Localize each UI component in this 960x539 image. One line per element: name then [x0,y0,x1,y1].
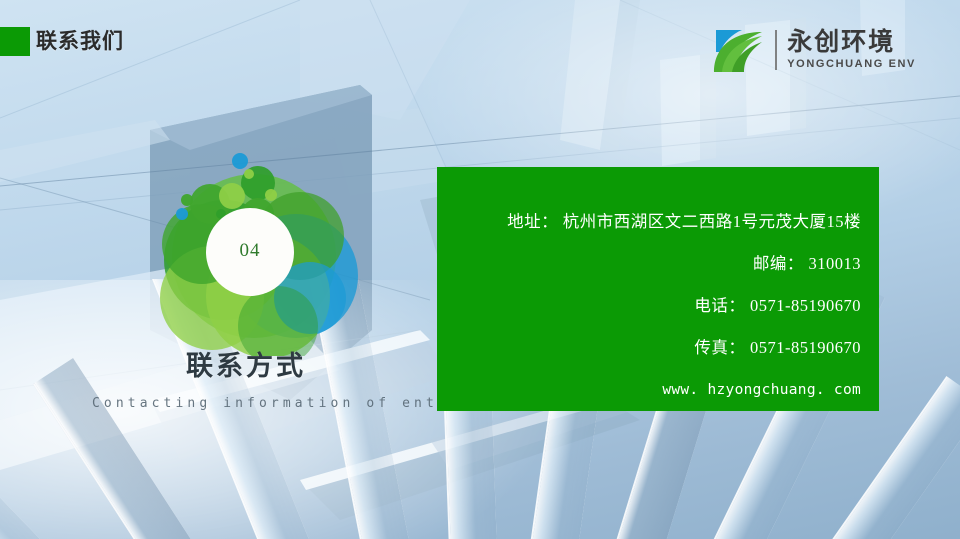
header-green-marker-icon [0,27,30,56]
contact-row-postcode: 邮编： 310013 [437,243,861,285]
circle-cluster-graphic-icon [150,148,358,356]
section-number-badge: 04 [150,148,358,356]
contact-row-fax: 传真： 0571-85190670 [437,327,861,369]
contact-row-phone: 电话： 0571-85190670 [437,285,861,327]
contact-row-address: 地址： 杭州市西湖区文二西路1号元茂大厦15楼 [437,201,861,243]
logo-name-cn: 永创环境 [787,29,916,56]
contact-row-website[interactable]: www. hzyongchuang. com [437,369,861,411]
presentation-slide: 联系我们 永创环境 YONGCHUANG ENV [0,0,960,539]
company-logo[interactable]: 永创环境 YONGCHUANG ENV [712,22,916,78]
page-title: 联系我们 [36,28,124,56]
section-title: 联系方式 [186,350,306,382]
contact-info-panel: 地址： 杭州市西湖区文二西路1号元茂大厦15楼 邮编： 310013 电话： 0… [437,167,879,411]
yongchuang-leaf-swoosh-icon [712,26,766,74]
logo-divider [775,30,777,70]
logo-name-en: YONGCHUANG ENV [787,57,916,71]
